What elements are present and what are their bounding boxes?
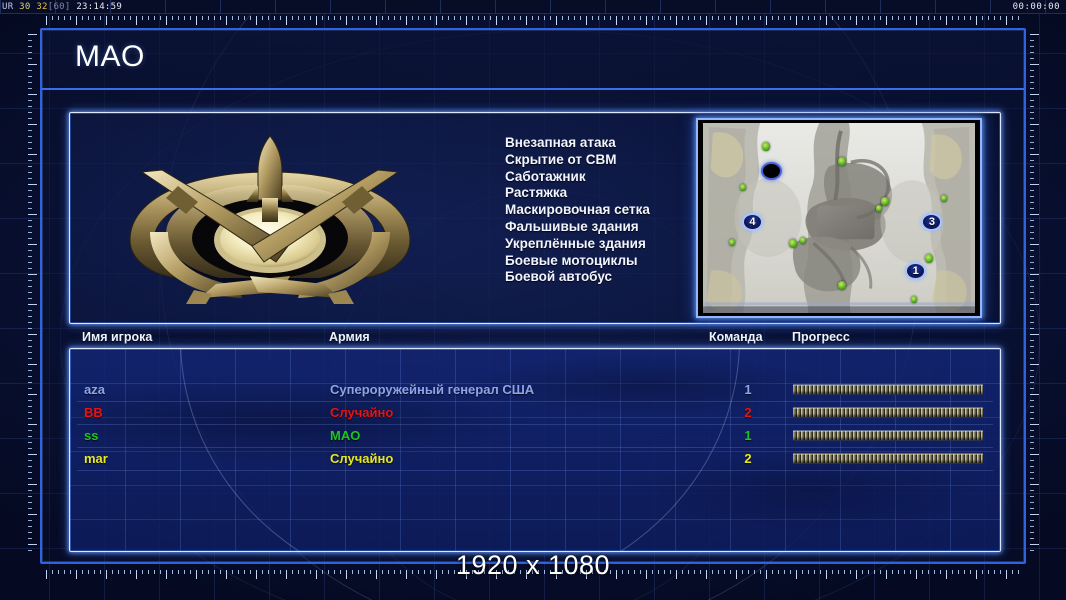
status-left: UR 30 32[60] 23:14:59: [2, 0, 122, 14]
player-army: MAO: [330, 428, 360, 443]
progress-fill: [793, 408, 983, 417]
player-name: BB: [84, 405, 103, 420]
minimap-resource-icon: [789, 239, 797, 248]
minimap-resource-icon: [800, 237, 806, 244]
player-progress-bar: [793, 407, 983, 418]
status-value-1: 30: [19, 2, 30, 12]
minimap-resource-icon: [838, 157, 846, 166]
table-row[interactable]: ssMAO1: [77, 425, 993, 448]
header-player-name: Имя игрока: [82, 330, 152, 344]
ruler-top: [46, 16, 1020, 27]
player-rows: azaСупероружейный генерал США1BBСлучайно…: [77, 379, 993, 471]
minimap-resource-icon: [911, 296, 917, 303]
ability-list: Внезапная атака Скрытие от СВМ Саботажни…: [505, 135, 650, 286]
ability-item: Скрытие от СВМ: [505, 152, 650, 169]
minimap-resource-icon: [729, 239, 735, 246]
table-row[interactable]: marСлучайно2: [77, 448, 993, 471]
ability-item: Саботажник: [505, 169, 650, 186]
player-army: Случайно: [330, 405, 393, 420]
player-name: ss: [84, 428, 98, 443]
progress-fill: [793, 431, 983, 440]
progress-fill: [793, 454, 983, 463]
ability-item: Маскировочная сетка: [505, 202, 650, 219]
minimap-resource-icon: [876, 205, 882, 212]
table-row[interactable]: BBСлучайно2: [77, 402, 993, 425]
ability-item: Боевой автобус: [505, 269, 650, 286]
minimap-resource-icon: [881, 197, 889, 206]
ability-item: Фальшивые здания: [505, 219, 650, 236]
header-progress: Прогресс: [792, 330, 850, 344]
status-bar-grid: [0, 0, 1066, 13]
player-army: Случайно: [330, 451, 393, 466]
player-name: aza: [84, 382, 105, 397]
progress-fill: [793, 385, 983, 394]
window-titlebar: MAO: [42, 30, 1024, 90]
app-root: UR 30 32[60] 23:14:59 00:00:00 MAO: [0, 0, 1066, 600]
page-title: MAO: [75, 40, 145, 74]
map-preview[interactable]: 431: [696, 118, 982, 318]
ability-item: Растяжка: [505, 185, 650, 202]
minimap[interactable]: 431: [703, 123, 975, 313]
player-progress-bar: [793, 430, 983, 441]
resolution-overlay: 1920 x 1080: [0, 550, 1066, 581]
minimap-resource-icon: [740, 184, 746, 191]
player-team: 2: [740, 451, 756, 466]
ruler-left: [28, 34, 39, 554]
minimap-resource-icon: [925, 254, 933, 263]
ability-item: Укреплённые здания: [505, 236, 650, 253]
status-clock: 23:14:59: [76, 2, 122, 12]
player-list-panel: azaСупероружейный генерал США1BBСлучайно…: [69, 348, 1001, 552]
game-setup-window: MAO: [40, 28, 1026, 564]
ability-item: Боевые мотоциклы: [505, 253, 650, 270]
ruler-right: [1030, 34, 1041, 554]
status-bar: UR 30 32[60] 23:14:59 00:00:00: [0, 0, 1066, 14]
player-progress-bar: [793, 453, 983, 464]
minimap-resource-icon: [762, 142, 770, 151]
minimap-resource-icon: [838, 281, 846, 290]
status-prefix: UR: [2, 2, 13, 12]
minimap-start-position[interactable]: [761, 162, 782, 180]
ability-item: Внезапная атака: [505, 135, 650, 152]
table-header: Имя игрока Армия Команда Прогресс: [76, 330, 994, 346]
minimap-start-position[interactable]: 4: [742, 213, 763, 231]
player-team: 1: [740, 382, 756, 397]
emblem-icon: [120, 128, 420, 313]
table-row[interactable]: azaСупероружейный генерал США1: [77, 379, 993, 402]
faction-info-panel: Внезапная атака Скрытие от СВМ Саботажни…: [69, 112, 1001, 324]
player-army: Супероружейный генерал США: [330, 382, 534, 397]
player-progress-bar: [793, 384, 983, 395]
player-team: 1: [740, 428, 756, 443]
header-army: Армия: [329, 330, 370, 344]
status-right-clock: 00:00:00: [1013, 0, 1060, 14]
minimap-resource-icon: [941, 195, 947, 202]
status-value-2: 32: [36, 2, 47, 12]
player-name: mar: [84, 451, 108, 466]
faction-emblem: [120, 128, 420, 313]
player-team: 2: [740, 405, 756, 420]
status-bracket: [60]: [48, 2, 71, 12]
header-team: Команда: [709, 330, 763, 344]
